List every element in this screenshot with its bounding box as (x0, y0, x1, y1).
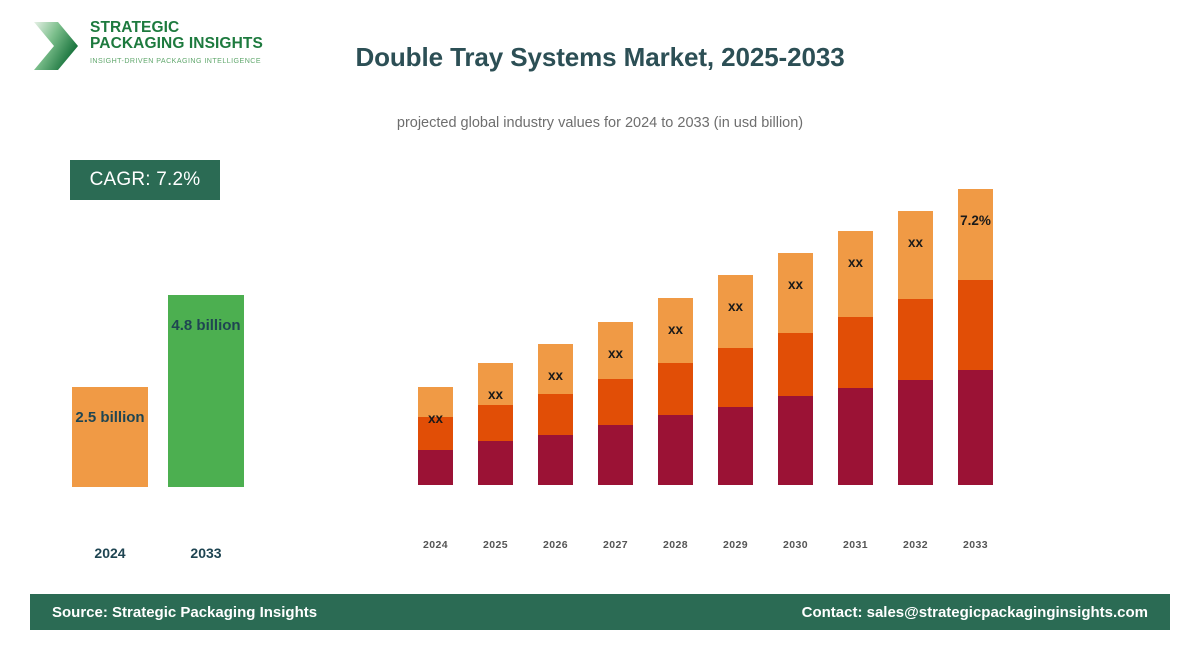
stacked-bar-segment (478, 441, 513, 485)
stacked-bar-segment (718, 407, 753, 485)
footer-bar: Source: Strategic Packaging Insights Con… (30, 594, 1170, 630)
stacked-bar (538, 344, 573, 485)
stacked-bar-top-label: xx (886, 235, 946, 250)
stacked-bar-segment (718, 348, 753, 407)
stacked-bar-year: 2024 (406, 539, 466, 551)
stacked-bar-year: 2031 (826, 539, 886, 551)
comparison-bar-value: 4.8 billion (146, 317, 266, 334)
stacked-bar-year: 2032 (886, 539, 946, 551)
stacked-bar-top-label: xx (706, 299, 766, 314)
stacked-bar-segment (838, 388, 873, 485)
stacked-bar-segment (418, 450, 453, 485)
stacked-bar-segment (838, 231, 873, 317)
stacked-bar-year: 2027 (586, 539, 646, 551)
stacked-bar-year: 2033 (946, 539, 1006, 551)
stacked-forecast-chart: xx2024xx2025xx2026xx2027xx2028xx2029xx20… (400, 0, 1020, 600)
stacked-bar-year: 2029 (706, 539, 766, 551)
stacked-bar-top-label: xx (466, 387, 526, 402)
stacked-bar-segment (838, 317, 873, 388)
stacked-bar-segment (778, 333, 813, 396)
comparison-bar-value: 2.5 billion (50, 409, 170, 426)
stacked-bar-segment (958, 370, 993, 485)
stacked-bar-top-label: xx (586, 346, 646, 361)
stacked-bar-segment (958, 189, 993, 280)
stacked-bar-segment (898, 211, 933, 299)
stacked-bar-segment (658, 363, 693, 415)
stacked-bar-segment (778, 396, 813, 485)
stacked-bar-year: 2026 (526, 539, 586, 551)
stacked-bar-top-label: xx (526, 368, 586, 383)
comparison-bar (72, 387, 148, 487)
stacked-bar-top-label: xx (766, 277, 826, 292)
stacked-bar (898, 211, 933, 485)
stacked-bar-segment (778, 253, 813, 333)
stacked-bar (418, 387, 453, 485)
stacked-bar-segment (958, 280, 993, 370)
footer-source: Source: Strategic Packaging Insights (52, 604, 317, 621)
stacked-bar-segment (658, 415, 693, 485)
chart-page: STRATEGIC PACKAGING INSIGHTS INSIGHT-DRI… (0, 0, 1200, 650)
stacked-bar (478, 363, 513, 485)
comparison-bar-year: 2033 (146, 545, 266, 561)
stacked-bar-segment (538, 394, 573, 435)
stacked-bar-year: 2030 (766, 539, 826, 551)
stacked-bar-top-label: 7.2% (946, 213, 1006, 228)
stacked-bar-top-label: xx (646, 322, 706, 337)
stacked-bar-segment (898, 380, 933, 485)
stacked-bar-segment (598, 379, 633, 425)
stacked-bar-year: 2025 (466, 539, 526, 551)
stacked-bar-segment (598, 425, 633, 485)
endpoint-comparison-chart: 2.5 billion20244.8 billion2033 (0, 0, 300, 600)
stacked-bar-segment (898, 299, 933, 380)
stacked-bar-year: 2028 (646, 539, 706, 551)
stacked-bar (958, 189, 993, 485)
footer-contact: Contact: sales@strategicpackaginginsight… (802, 604, 1148, 621)
stacked-bar-segment (478, 405, 513, 441)
stacked-bar-top-label: xx (826, 255, 886, 270)
stacked-bar-segment (538, 435, 573, 485)
stacked-bar-top-label: xx (406, 411, 466, 426)
